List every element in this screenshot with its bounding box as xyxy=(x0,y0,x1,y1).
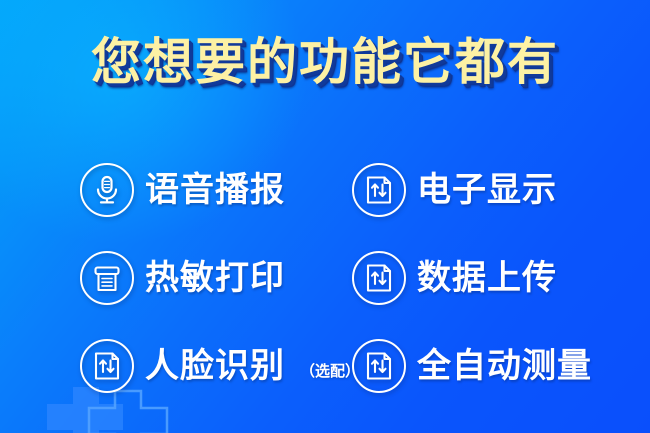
feature-optional-note: （选配） xyxy=(300,351,360,381)
feature-label: 人脸识别 xyxy=(145,347,285,385)
document-transfer-icon xyxy=(352,251,406,305)
page-title: 您想要的功能它都有 xyxy=(0,34,650,90)
feature-item-thermal-printing[interactable]: 热敏打印 xyxy=(80,251,352,305)
feature-label: 语音播报 xyxy=(145,171,285,209)
document-transfer-icon xyxy=(352,339,406,393)
feature-item-face-recognition[interactable]: 人脸识别 （选配） xyxy=(80,339,352,393)
document-transfer-icon xyxy=(80,339,134,393)
feature-label: 数据上传 xyxy=(417,259,557,297)
feature-label: 电子显示 xyxy=(417,171,557,209)
feature-grid: 语音播报 电子显示 xyxy=(80,146,600,410)
feature-label: 全自动测量 xyxy=(417,347,592,385)
feature-item-voice-broadcast[interactable]: 语音播报 xyxy=(80,163,352,217)
document-transfer-icon xyxy=(352,163,406,217)
feature-item-data-upload[interactable]: 数据上传 xyxy=(352,251,600,305)
feature-item-electronic-display[interactable]: 电子显示 xyxy=(352,163,600,217)
feature-label: 热敏打印 xyxy=(145,259,285,297)
printer-icon xyxy=(80,251,134,305)
promo-poster: 您想要的功能它都有 语音播报 xyxy=(0,0,650,433)
microphone-icon xyxy=(80,163,134,217)
feature-item-automatic-measurement[interactable]: 全自动测量 xyxy=(352,339,600,393)
